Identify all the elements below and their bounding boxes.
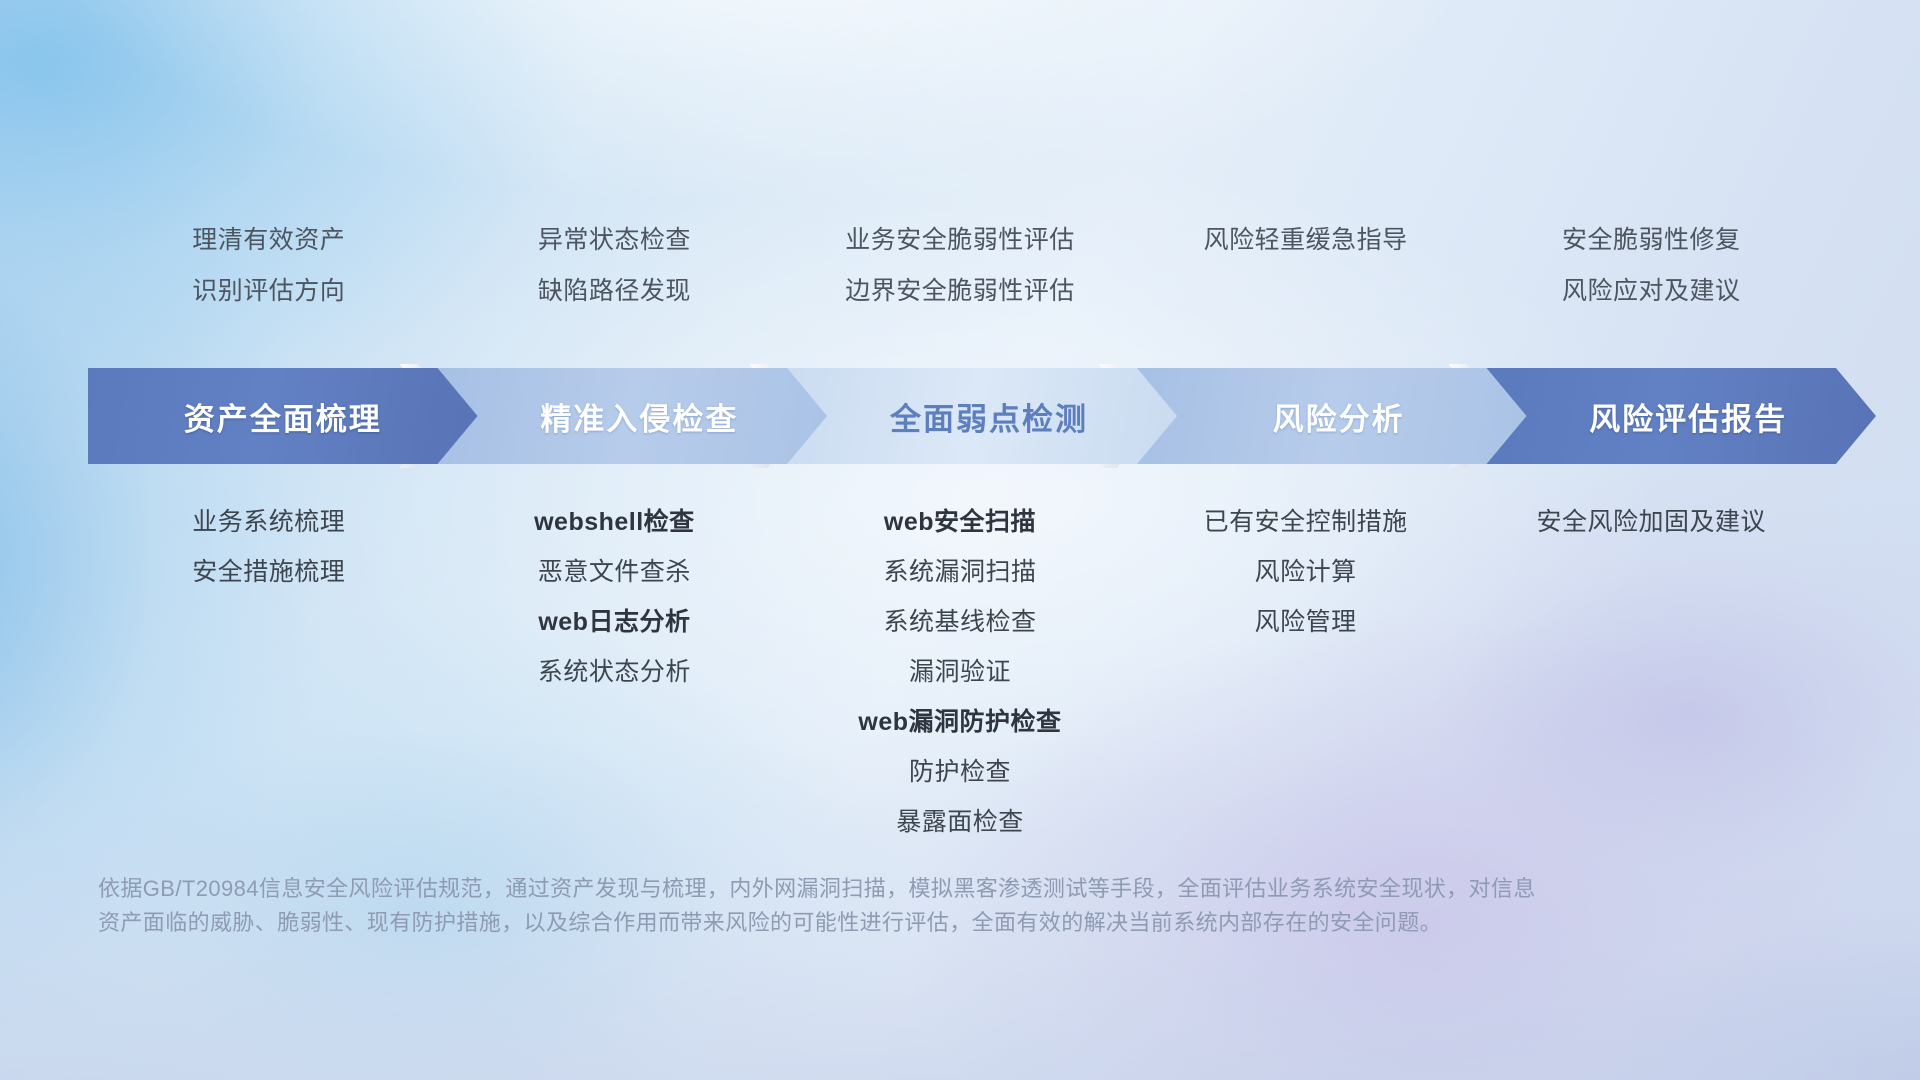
bottom-annotation-item: web日志分析 (538, 610, 690, 635)
bottom-annotation-item: 安全措施梳理 (192, 560, 345, 585)
top-annotation-item: 业务安全脆弱性评估 (845, 228, 1075, 253)
bottom-column-intrusion: webshell检查恶意文件查杀web日志分析系统状态分析 (442, 510, 788, 860)
top-annotations-row: 理清有效资产识别评估方向 异常状态检查缺陷路径发现 业务安全脆弱性评估边界安全脆… (96, 228, 1824, 330)
process-stage-label: 风险评估报告 (1589, 394, 1787, 439)
top-annotation-item: 安全脆弱性修复 (1562, 228, 1741, 253)
top-annotation-item: 风险应对及建议 (1562, 279, 1741, 304)
top-column-weakness: 业务安全脆弱性评估边界安全脆弱性评估 (787, 228, 1133, 330)
bottom-column-risk-analysis: 已有安全控制措施风险计算风险管理 (1133, 510, 1479, 860)
bottom-column-report: 安全风险加固及建议 (1478, 510, 1824, 860)
process-stage-risk-analysis[interactable]: 风险分析 (1137, 368, 1527, 464)
bottom-annotation-item: 安全风险加固及建议 (1536, 510, 1766, 535)
bottom-column-weakness: web安全扫描系统漏洞扫描系统基线检查漏洞验证web漏洞防护检查防护检查暴露面检… (787, 510, 1133, 860)
bottom-annotation-item: 系统状态分析 (538, 660, 691, 685)
top-column-intrusion: 异常状态检查缺陷路径发现 (442, 228, 788, 330)
footer-line-2: 资产面临的威胁、脆弱性、现有防护措施，以及综合作用而带来风险的可能性进行评估，全… (98, 906, 1838, 940)
footer-line-1: 依据GB/T20984信息安全风险评估规范，通过资产发现与梳理，内外网漏洞扫描，… (98, 872, 1838, 906)
bottom-annotations-row: 业务系统梳理安全措施梳理 webshell检查恶意文件查杀web日志分析系统状态… (96, 510, 1824, 860)
bottom-annotation-item: 暴露面检查 (896, 810, 1024, 835)
bottom-annotation-item: 系统漏洞扫描 (883, 560, 1036, 585)
top-column-asset: 理清有效资产识别评估方向 (96, 228, 442, 330)
bottom-annotation-item: 防护检查 (909, 760, 1011, 785)
bottom-annotation-item: web安全扫描 (884, 510, 1036, 535)
bottom-annotation-item: webshell检查 (534, 510, 695, 535)
slide-content: 理清有效资产识别评估方向 异常状态检查缺陷路径发现 业务安全脆弱性评估边界安全脆… (0, 0, 1920, 1080)
bottom-annotation-item: 风险管理 (1255, 610, 1357, 635)
process-stage-asset[interactable]: 资产全面梳理 (88, 368, 478, 464)
top-column-report: 安全脆弱性修复风险应对及建议 (1478, 228, 1824, 330)
process-stage-weakness[interactable]: 全面弱点检测 (787, 368, 1177, 464)
process-arrow-banner: 资产全面梳理精准入侵检查全面弱点检测风险分析风险评估报告 (88, 368, 1836, 464)
slide-canvas: 理清有效资产识别评估方向 异常状态检查缺陷路径发现 业务安全脆弱性评估边界安全脆… (0, 0, 1920, 1080)
bottom-annotation-item: web漏洞防护检查 (858, 710, 1061, 735)
top-annotation-item: 异常状态检查 (538, 228, 691, 253)
bottom-annotation-item: 系统基线检查 (883, 610, 1036, 635)
bottom-annotation-item: 业务系统梳理 (192, 510, 345, 535)
process-stage-label: 资产全面梳理 (184, 394, 382, 439)
top-annotation-item: 边界安全脆弱性评估 (845, 279, 1075, 304)
top-annotation-item: 理清有效资产 (192, 228, 345, 253)
top-annotation-item: 风险轻重缓急指导 (1204, 228, 1408, 253)
process-stage-label: 精准入侵检查 (540, 394, 738, 439)
top-column-risk-analysis: 风险轻重缓急指导 (1133, 228, 1479, 330)
bottom-annotation-item: 漏洞验证 (909, 660, 1011, 685)
bottom-annotation-item: 风险计算 (1255, 560, 1357, 585)
process-stage-label: 风险分析 (1273, 394, 1405, 439)
process-stage-report[interactable]: 风险评估报告 (1486, 368, 1876, 464)
process-stage-label: 全面弱点检测 (890, 394, 1088, 439)
bottom-column-asset: 业务系统梳理安全措施梳理 (96, 510, 442, 860)
top-annotation-item: 缺陷路径发现 (538, 279, 691, 304)
process-stage-intrusion[interactable]: 精准入侵检查 (438, 368, 828, 464)
footer-description: 依据GB/T20984信息安全风险评估规范，通过资产发现与梳理，内外网漏洞扫描，… (98, 872, 1838, 940)
top-annotation-item: 识别评估方向 (192, 279, 345, 304)
bottom-annotation-item: 恶意文件查杀 (538, 560, 691, 585)
bottom-annotation-item: 已有安全控制措施 (1204, 510, 1408, 535)
